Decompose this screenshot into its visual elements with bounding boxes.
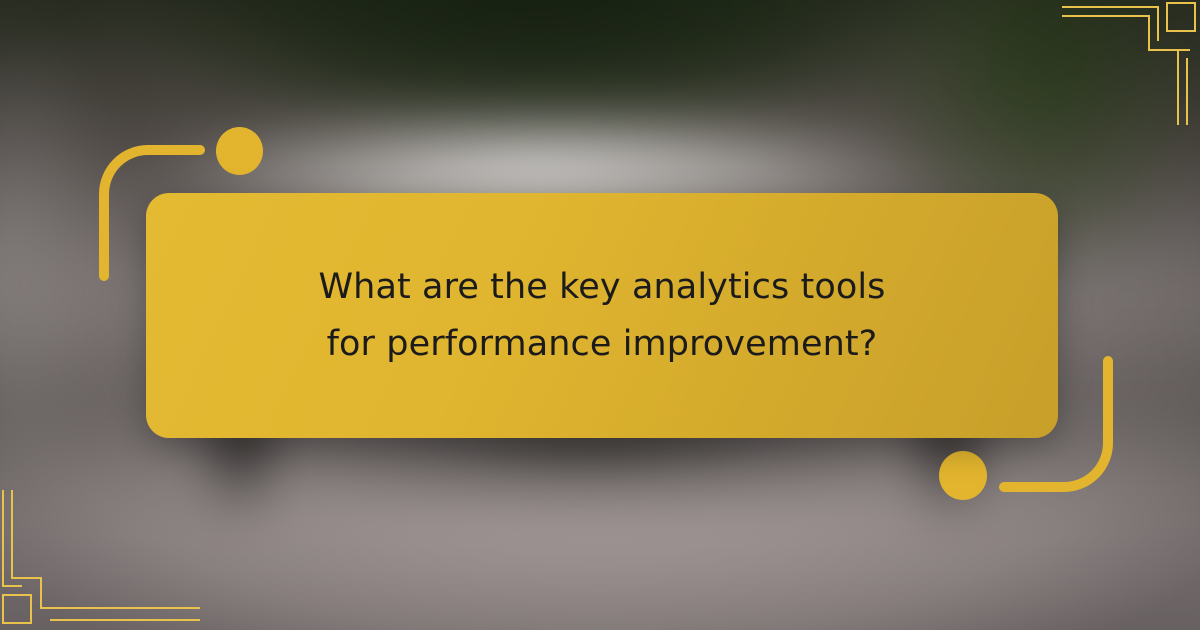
question-text: What are the key analytics tools for per… [292,259,912,372]
corner-frame-top-right-icon [1040,0,1200,125]
accent-dot-top-left [216,127,263,175]
corner-frame-bottom-left-icon [0,490,200,630]
quote-card-canvas: What are the key analytics tools for per… [0,0,1200,630]
accent-dot-bottom-right [939,451,987,500]
question-card: What are the key analytics tools for per… [146,193,1058,438]
